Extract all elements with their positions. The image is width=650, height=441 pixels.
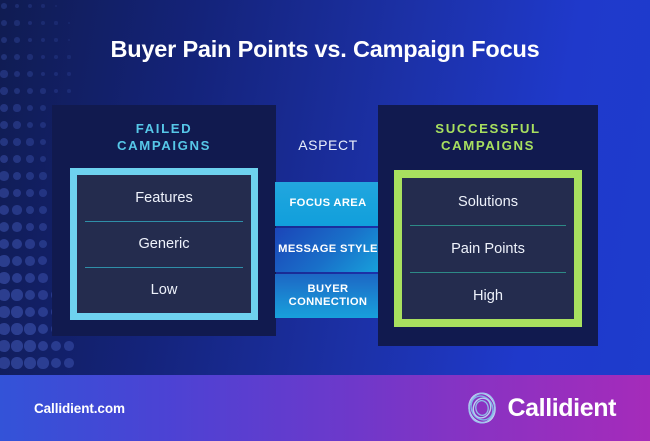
footer-bar: Callidient.com Callidient: [0, 375, 650, 441]
panel-successful-heading: SUCCESSFUL CAMPAIGNS: [378, 105, 598, 154]
successful-card: Solutions Pain Points High: [394, 170, 582, 327]
panel-failed-campaigns: FAILED CAMPAIGNS Features Generic Low: [52, 105, 276, 336]
failed-row-message-style: Generic: [77, 221, 251, 267]
panel-failed-heading-line2: CAMPAIGNS: [52, 137, 276, 154]
slide-canvas: Buyer Pain Points vs. Campaign Focus FAI…: [0, 0, 650, 441]
footer-website-url: Callidient.com: [34, 401, 125, 416]
panel-successful-campaigns: SUCCESSFUL CAMPAIGNS Solutions Pain Poin…: [378, 105, 598, 346]
aspect-chip-buyer-connection: BUYER CONNECTION: [275, 274, 381, 318]
page-title: Buyer Pain Points vs. Campaign Focus: [0, 36, 650, 63]
failed-card: Features Generic Low: [70, 168, 258, 320]
successful-row-message-style: Pain Points: [402, 225, 574, 272]
successful-row-buyer-connection: High: [402, 272, 574, 319]
panel-failed-heading-line1: FAILED: [52, 120, 276, 137]
aspect-column-label: ASPECT: [275, 137, 381, 153]
brand-lockup: Callidient: [463, 389, 616, 427]
panel-successful-heading-line1: SUCCESSFUL: [378, 120, 598, 137]
failed-row-buyer-connection: Low: [77, 267, 251, 313]
failed-row-focus-area: Features: [77, 175, 251, 221]
brand-name: Callidient: [507, 394, 616, 423]
aspect-chip-focus-area: FOCUS AREA: [275, 182, 381, 226]
panel-failed-heading: FAILED CAMPAIGNS: [52, 105, 276, 154]
aspect-chip-message-style: MESSAGE STYLE: [275, 228, 381, 272]
successful-row-focus-area: Solutions: [402, 178, 574, 225]
panel-successful-heading-line2: CAMPAIGNS: [378, 137, 598, 154]
concentric-rings-icon: [463, 389, 501, 427]
